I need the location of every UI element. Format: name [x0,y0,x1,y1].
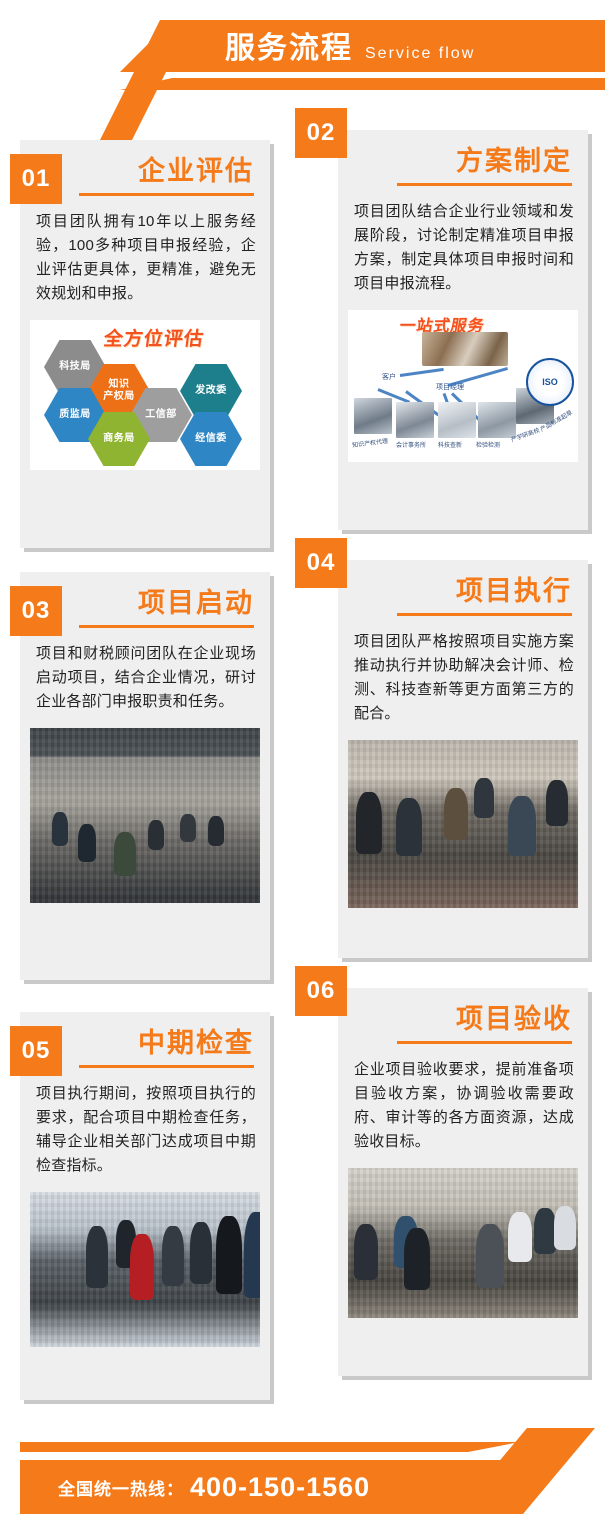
one-stop-label-ip: 知识产权代理 [352,436,389,449]
page-footer: 全国统一热线： 400-150-1560 [0,1428,605,1514]
title-underline [79,625,254,628]
one-stop-service-diagram: 一站式服务 客户 项目经理 ISO 知识产权代理 [348,310,578,462]
hotline-number[interactable]: 400-150-1560 [190,1472,370,1503]
title-underline [79,193,254,196]
hex-diagram-title: 全方位评估 [102,324,206,351]
step-card-06-header: 项目验收 [338,988,588,1044]
one-stop-arrow [400,368,444,377]
one-stop-thumb-ip [354,398,392,434]
step-card-06-box: 项目验收 企业项目验收要求，提前准备项目验收方案，协调验收需要政府、审计等的各方… [338,988,588,1376]
one-stop-thumb-accounting [396,402,434,438]
service-flow-poster: 服务流程 Service flow 企业评估 项目团队拥有10年以上服务经验，1… [0,0,605,1538]
step-card-04-title: 项目执行 [456,574,572,608]
photo-lobby-visit [30,1192,260,1347]
step-card-01-body: 项目团队拥有10年以上服务经验，100多种项目申报经验，企业评估更具体，更精准，… [20,196,270,320]
step-card-02-title: 方案制定 [456,144,572,178]
step-card-01-media: 全方位评估 科技局 知识产权局 质监局 工信部 商务局 发改委 经信委 [30,320,260,470]
step-card-02-box: 方案制定 项目团队结合企业行业领域和发展阶段，讨论制定精准项目申报方案，制定具体… [338,130,588,530]
step-card-04-media [348,740,578,908]
photo-conference-room [30,728,260,903]
one-stop-label-testing: 检验检测 [476,440,500,449]
step-card-02-body: 项目团队结合企业行业领域和发展阶段，讨论制定精准项目申报方案，制定具体项目申报时… [338,186,588,310]
step-card-06-body: 企业项目验收要求，提前准备项目验收方案，协调验收需要政府、审计等的各方面资源，达… [338,1044,588,1168]
title-underline [397,613,572,616]
photo-boardroom-acceptance [348,1168,578,1318]
step-badge-05: 05 [10,1026,62,1076]
hex-node-jingxin: 经信委 [180,412,242,466]
step-card-06-title: 项目验收 [456,1002,572,1036]
hex-diagram: 全方位评估 科技局 知识产权局 质监局 工信部 商务局 发改委 经信委 [30,320,260,470]
step-card-05-media [30,1192,260,1347]
header-stripe-decoration [120,78,605,90]
step-card-03-title: 项目启动 [138,586,254,620]
step-card-02-media: 一站式服务 客户 项目经理 ISO 知识产权代理 [348,310,578,462]
step-badge-01: 01 [10,154,62,204]
one-stop-thumb-search [438,402,476,438]
title-underline [397,183,572,186]
step-card-05-body: 项目执行期间，按照项目执行的要求，配合项目中期检查任务，辅导企业相关部门达成项目… [20,1068,270,1192]
step-card-01-title: 企业评估 [138,154,254,188]
step-badge-03: 03 [10,586,62,636]
title-underline [79,1065,254,1068]
hotline-label: 全国统一热线： [58,1475,184,1500]
page-title-en: Service flow [365,33,475,75]
hex-node-fagai: 发改委 [180,364,242,418]
one-stop-thumb-testing [478,402,516,438]
step-card-04-box: 项目执行 项目团队严格按照项目实施方案推动执行并协助解决会计师、检测、科技查新等… [338,560,588,958]
one-stop-node-customer: 客户 [382,372,396,382]
footer-stripe-decoration [20,1442,520,1452]
step-card-03-media [30,728,260,903]
iso-seal-icon: ISO [526,358,574,406]
step-card-03-body: 项目和财税顾问团队在企业现场启动项目，结合企业情况，研讨企业各部门申报职责和任务… [20,628,270,728]
page-title-cn: 服务流程 [225,28,353,70]
step-card-04-header: 项目执行 [338,560,588,616]
step-badge-02: 02 [295,108,347,158]
one-stop-label-accounting: 会计事务所 [396,440,426,449]
step-badge-04: 04 [295,538,347,588]
photo-meeting-laptops [348,740,578,908]
page-header: 服务流程 Service flow [0,0,605,120]
hotline: 全国统一热线： 400-150-1560 [58,1460,370,1514]
step-card-04-body: 项目团队严格按照项目实施方案推动执行并协助解决会计师、检测、科技查新等更方面第三… [338,616,588,740]
step-card-02-header: 方案制定 [338,130,588,186]
title-underline [397,1041,572,1044]
page-title: 服务流程 Service flow [225,28,475,70]
step-card-06-media [348,1168,578,1318]
step-card-05-title: 中期检查 [138,1026,254,1060]
one-stop-arrow [448,367,508,387]
one-stop-label-search: 科技查新 [438,440,462,449]
one-stop-team-photo [422,332,508,366]
step-badge-06: 06 [295,966,347,1016]
